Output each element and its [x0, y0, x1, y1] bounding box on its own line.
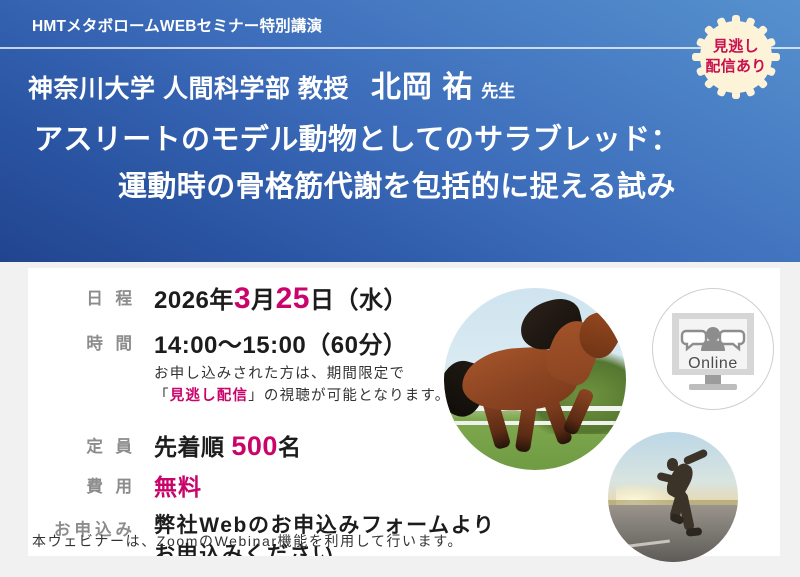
details-rows: 日 程 2026年3月25日（水） 時 間 14:00〜15:00（60分） お… — [28, 268, 498, 556]
sprinting-runner-photo — [608, 432, 738, 562]
date-month-unit: 月 — [251, 287, 276, 314]
seminar-kicker: HMTメタボロームWEBセミナー特別講演 — [32, 14, 322, 36]
header-banner: HMTメタボロームWEBセミナー特別講演 神奈川大学 人間科学部 教授 北岡 祐… — [0, 0, 800, 262]
status-badge: 見逃し 配信あり — [690, 13, 782, 101]
fee-label: 費 用 — [28, 468, 136, 497]
page-title: アスリートのモデル動物としてのサラブレッド： 運動時の骨格筋代謝を包括的に捉える… — [0, 122, 800, 206]
speaker-affiliation: 神奈川大学 人間科学部 教授 — [28, 69, 349, 105]
badge-line-1: 見逃し — [713, 37, 759, 57]
capacity-value: 先着順 500名 — [136, 428, 301, 462]
detail-row-time: 時 間 14:00〜15:00（60分） — [28, 325, 498, 360]
horse-photo-fence-rail-bottom — [444, 421, 626, 425]
time-label: 時 間 — [28, 325, 136, 354]
speaker-honorific: 先生 — [481, 77, 515, 102]
time-note: お申し込みされた方は、期間限定で 「見逃し配信」の視聴が可能となります。 — [28, 364, 498, 408]
webinar-poster: HMTメタボロームWEBセミナー特別講演 神奈川大学 人間科学部 教授 北岡 祐… — [0, 0, 800, 577]
speaker-name: 北岡 祐 — [371, 62, 473, 106]
detail-row-capacity: 定 員 先着順 500名 — [28, 428, 498, 462]
detail-row-date: 日 程 2026年3月25日（水） — [28, 280, 498, 316]
time-value: 14:00〜15:00（60分） — [136, 325, 407, 360]
fee-value: 無料 — [136, 468, 202, 502]
capacity-suffix: 名 — [278, 434, 302, 460]
date-day-number: 25 — [276, 282, 310, 315]
header-divider — [0, 47, 800, 49]
note-prefix: 「 — [154, 388, 170, 404]
note-highlight: 見逃し配信 — [170, 388, 249, 404]
date-month-number: 3 — [234, 282, 251, 315]
badge-line-2: 配信あり — [705, 57, 766, 77]
runner-head — [667, 458, 679, 471]
date-label: 日 程 — [28, 280, 136, 309]
note-suffix: 」の視聴が可能となります。 — [248, 388, 450, 404]
date-day-unit: 日（水） — [310, 287, 408, 314]
badge-text: 見逃し 配信あり — [690, 13, 782, 101]
capacity-number: 500 — [231, 431, 278, 461]
date-value: 2026年3月25日（水） — [136, 280, 408, 316]
title-line-2: 運動時の骨格筋代謝を包括的に捉える試み — [0, 169, 800, 206]
online-badge: Online — [652, 288, 774, 410]
online-label: Online — [653, 355, 773, 373]
speaker-line: 神奈川大学 人間科学部 教授 北岡 祐 先生 — [28, 62, 515, 106]
galloping-horse-photo — [444, 288, 626, 470]
date-year: 2026年 — [154, 287, 234, 314]
capacity-prefix: 先着順 — [154, 434, 225, 460]
capacity-label: 定 員 — [28, 428, 136, 457]
detail-row-fee: 費 用 無料 — [28, 468, 498, 502]
monitor-people-icon — [653, 289, 773, 409]
footnote: 本ウェビナーは、ZoomのWebinar機能を利用して行います。 — [32, 531, 632, 551]
title-line-1: アスリートのモデル動物としてのサラブレッド： — [0, 122, 800, 159]
